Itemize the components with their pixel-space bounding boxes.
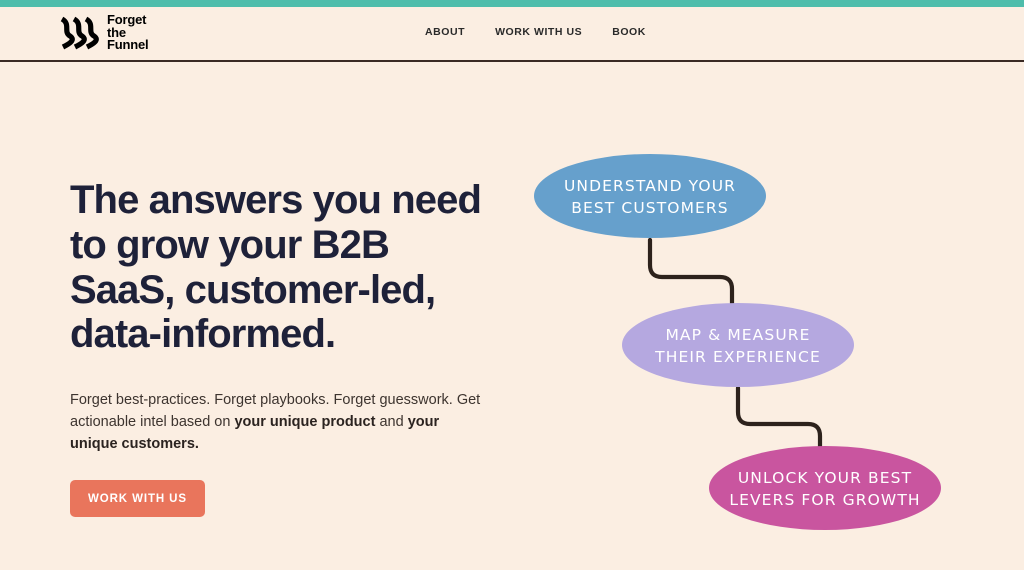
node-map-measure-shape — [622, 303, 854, 387]
node-understand-line-1: UNDERSTAND YOUR — [564, 177, 736, 195]
nav-item-work-with-us[interactable]: WORK WITH US — [495, 26, 582, 38]
headline-line-3: SaaS, customer-led, — [70, 268, 435, 312]
diagram-node-understand[interactable]: UNDERSTAND YOUR BEST CUSTOMERS — [534, 154, 766, 238]
node-unlock-shape — [709, 446, 941, 530]
headline-line-4: data-informed. — [70, 312, 335, 356]
logo-wordmark: Forget the Funnel — [107, 14, 148, 52]
landing-page: Forget the Funnel ABOUT WORK WITH US BOO… — [0, 0, 1024, 570]
headline-line-1: The answers you need — [70, 178, 481, 222]
node-map-measure-line-2: THEIR EXPERIENCE — [654, 348, 821, 366]
page-title: The answers you need to grow your B2B Sa… — [70, 178, 510, 357]
logo-line-3: Funnel — [107, 39, 148, 52]
hero-subcopy: Forget best-practices. Forget playbooks.… — [70, 390, 490, 455]
work-with-us-button[interactable]: WORK WITH US — [70, 480, 205, 517]
node-understand-line-2: BEST CUSTOMERS — [571, 199, 729, 217]
nav-item-about[interactable]: ABOUT — [425, 26, 465, 38]
node-unlock-line-1: UNLOCK YOUR BEST — [738, 469, 912, 487]
site-header: Forget the Funnel ABOUT WORK WITH US BOO… — [0, 7, 1024, 62]
headline-line-2: to grow your B2B — [70, 223, 389, 267]
subcopy-text-2: and — [375, 414, 407, 430]
subcopy-bold-1: your unique product — [234, 414, 375, 430]
node-understand-shape — [534, 154, 766, 238]
top-accent-bar — [0, 0, 1024, 7]
diagram-node-unlock[interactable]: UNLOCK YOUR BEST LEVERS FOR GROWTH — [709, 446, 941, 530]
triple-wave-chevron-icon — [58, 16, 100, 50]
main-navigation: ABOUT WORK WITH US BOOK — [425, 26, 646, 38]
process-diagram: UNDERSTAND YOUR BEST CUSTOMERS MAP & MEA… — [510, 140, 1010, 550]
node-map-measure-line-1: MAP & MEASURE — [665, 326, 810, 344]
nav-item-book[interactable]: BOOK — [612, 26, 646, 38]
hero-content: The answers you need to grow your B2B Sa… — [70, 178, 510, 357]
site-logo[interactable]: Forget the Funnel — [58, 14, 148, 52]
diagram-node-map-measure[interactable]: MAP & MEASURE THEIR EXPERIENCE — [622, 303, 854, 387]
node-unlock-line-2: LEVERS FOR GROWTH — [729, 491, 920, 509]
